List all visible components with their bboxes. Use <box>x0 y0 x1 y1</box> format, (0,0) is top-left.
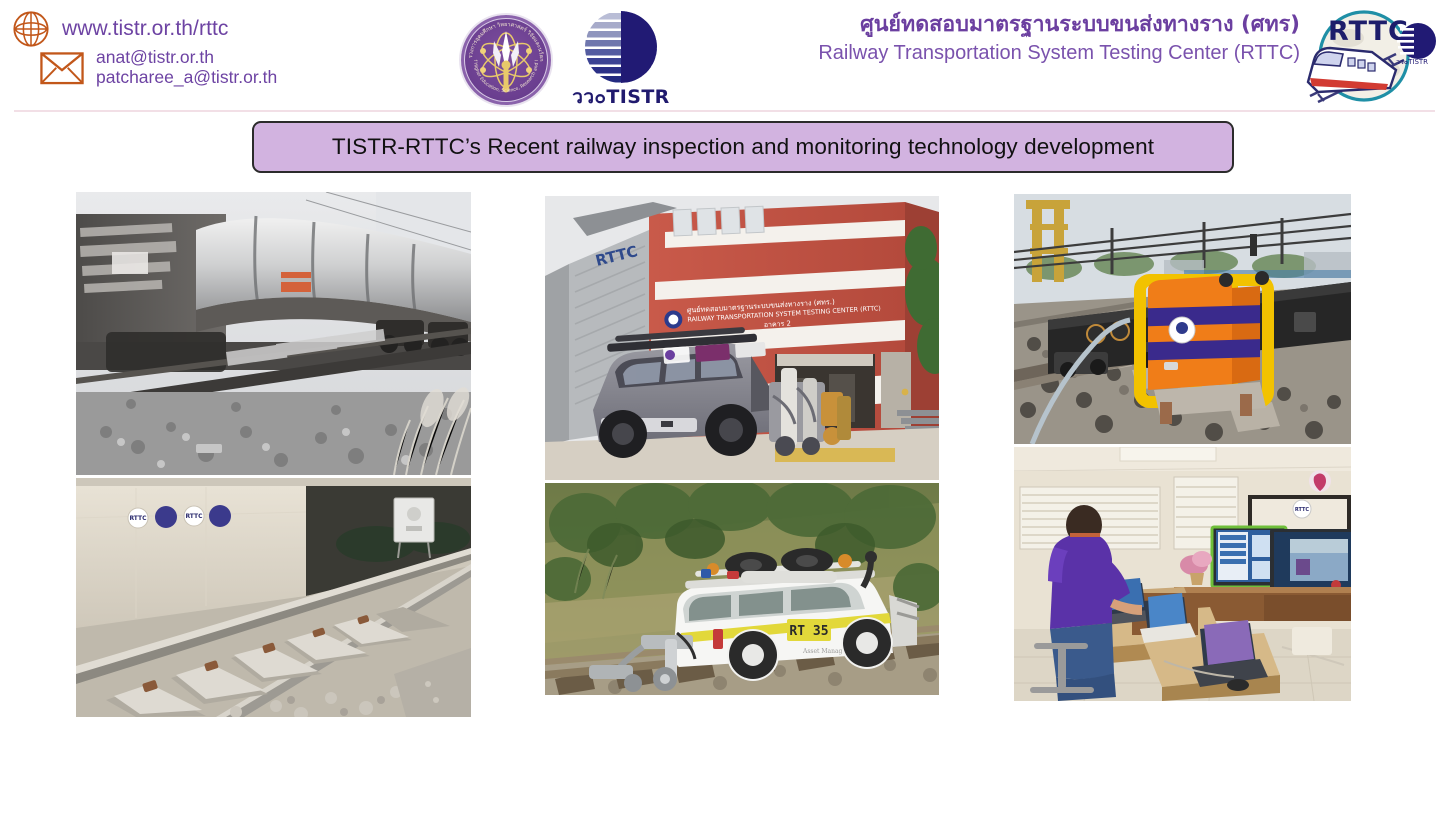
email-address-1[interactable]: anat@tistr.or.th <box>96 48 277 68</box>
website-url[interactable]: www.tistr.or.th/rttc <box>62 17 229 41</box>
header-divider <box>14 110 1435 112</box>
email-address-2[interactable]: patcharee_a@tistr.or.th <box>96 68 277 88</box>
monitoring-control-room-photo: RTTC <box>1014 447 1351 701</box>
organisation-title: ศูนย์ทดสอบมาตรฐานระบบขนส่งทางราง (ศทร) R… <box>700 12 1300 66</box>
technology-column-rawloc: RTTC RTTC <box>76 192 471 717</box>
technology-column-rfd-hirail: RTTC ศูนย์ทดสอบมาตรฐานระบบขนส่งทางราง (ศ… <box>545 196 939 695</box>
svg-text:RT 35: RT 35 <box>789 624 828 639</box>
hi-rail-suv-at-rttc-building-photo: RTTC ศูนย์ทดสอบมาตรฐานระบบขนส่งทางราง (ศ… <box>545 196 939 480</box>
slide: www.tistr.or.th/rttc anat@tistr.or.th pa… <box>0 0 1449 817</box>
tistr-wordmark: วว๐TISTR <box>562 82 680 112</box>
svg-text:RTTC: RTTC <box>1328 16 1409 47</box>
svg-text:อาคาร 2: อาคาร 2 <box>764 320 792 330</box>
email-contact[interactable]: anat@tistr.or.th patcharee_a@tistr.or.th <box>40 48 277 87</box>
page-title: TISTR-RTTC’s Recent railway inspection a… <box>332 134 1154 160</box>
slide-title-banner: TISTR-RTTC’s Recent railway inspection a… <box>252 121 1234 173</box>
rttc-test-track-with-sleepers-photo: RTTC RTTC <box>76 478 471 717</box>
envelope-icon <box>40 52 84 84</box>
website-contact[interactable]: www.tistr.or.th/rttc <box>12 10 229 48</box>
white-hi-rail-4wd-on-track-photo: RT 35 Asset Management <box>545 483 939 695</box>
svg-text:RTTC: RTTC <box>1295 507 1310 513</box>
svg-text:RTTC: RTTC <box>185 513 203 520</box>
svg-text:RTTC: RTTC <box>129 515 147 522</box>
org-title-thai: ศูนย์ทดสอบมาตรฐานระบบขนส่งทางราง (ศทร) <box>700 12 1300 39</box>
org-title-english: Railway Transportation System Testing Ce… <box>700 40 1300 66</box>
moving-freight-tank-train-photo <box>76 192 471 475</box>
technology-column-rsm: RTTC <box>1014 194 1351 701</box>
tistr-logo: วว๐TISTR <box>562 10 680 108</box>
ministry-seal-logo: กระทรวงการอุดมศึกษา วิทยาศาสตร์ วิจัยและ… <box>459 13 553 107</box>
svg-text:วว๐TISTR: วว๐TISTR <box>1396 58 1428 66</box>
orange-sensor-module-on-track-photo <box>1014 194 1351 444</box>
globe-icon <box>12 10 50 48</box>
svg-text:กระทรวงการอุดมศึกษา วิทยาศาสตร: กระทรวงการอุดมศึกษา วิทยาศาสตร์ วิจัยและ… <box>459 13 545 62</box>
slide-header: www.tistr.or.th/rttc anat@tistr.or.th pa… <box>0 0 1449 112</box>
tistr-globe-icon <box>566 10 676 84</box>
rttc-logo: RTTC วว๐TISTR <box>1288 8 1438 106</box>
